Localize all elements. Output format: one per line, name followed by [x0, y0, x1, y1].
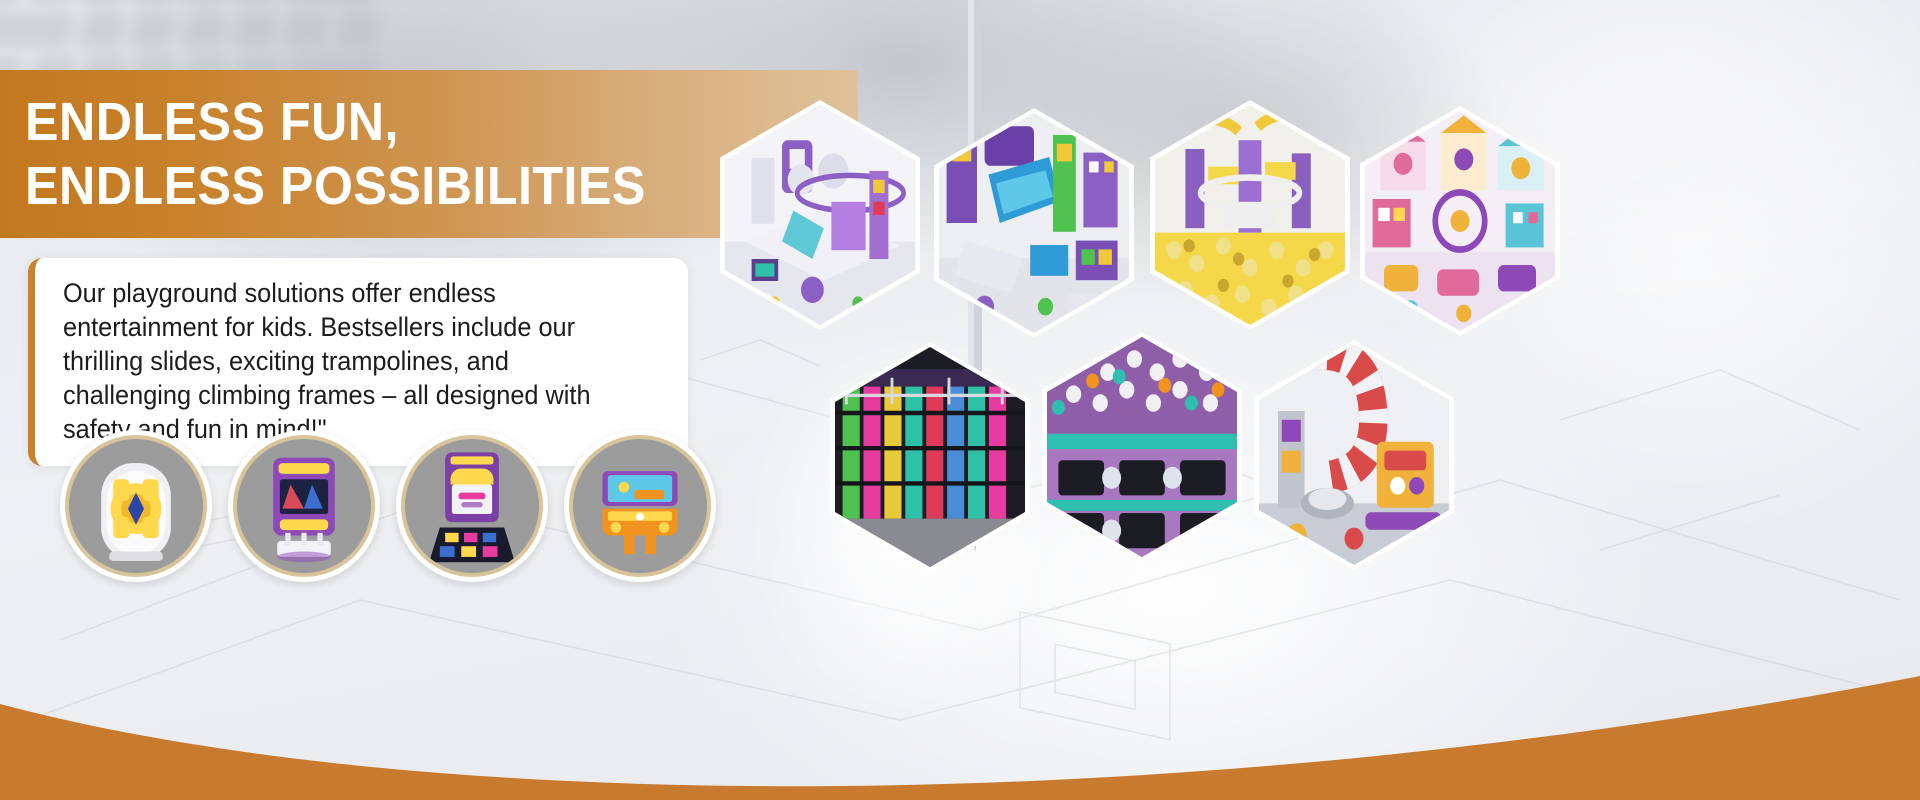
gallery-hex-ball-pit-yellow-arena[interactable]	[1150, 100, 1350, 330]
product-image-video-cabinet	[237, 439, 371, 573]
product-circle-purple-video-game-cabinet[interactable]	[228, 430, 380, 582]
hex-frame	[1254, 340, 1454, 570]
product-image-play-table	[573, 439, 707, 573]
gallery-hex-indoor-playground-green-slide[interactable]	[934, 108, 1134, 338]
circle-gold-ring	[569, 435, 711, 577]
product-circle-kids-ride-on-play-table[interactable]	[564, 430, 716, 582]
circle-gold-ring	[233, 435, 375, 577]
product-image-dance-floor	[405, 439, 539, 573]
product-circle-dance-floor-arcade-machine[interactable]	[396, 430, 548, 582]
quote-text: Our playground solutions offer endless e…	[63, 276, 637, 446]
product-circle-carousel-ferris-wheel-arcade-machine[interactable]	[60, 430, 212, 582]
hexagon-gallery	[700, 80, 1920, 600]
circle-gold-ring	[401, 435, 543, 577]
hex-image	[1259, 345, 1449, 565]
hex-image	[1047, 337, 1237, 557]
gallery-hex-ninja-warrior-obstacle-course[interactable]	[830, 342, 1030, 572]
hex-frame	[934, 108, 1134, 338]
hex-frame	[720, 100, 920, 330]
bottom-orange-wave	[0, 670, 1920, 800]
hex-image	[725, 105, 915, 325]
hex-frame	[1360, 106, 1560, 336]
hex-frame	[830, 342, 1030, 572]
gallery-hex-trampoline-park-ball-pit[interactable]	[1042, 332, 1242, 562]
hex-image	[1155, 105, 1345, 325]
circle-gold-ring	[65, 435, 207, 577]
hex-image	[835, 347, 1025, 567]
hex-image	[1365, 111, 1555, 331]
gallery-hex-indoor-playground-purple-white[interactable]	[720, 100, 920, 330]
gallery-hex-carnival-theme-play-area[interactable]	[1360, 106, 1560, 336]
product-image-carousel	[69, 439, 203, 573]
page-title: ENDLESS FUN, ENDLESS POSSIBILITIES	[25, 90, 646, 218]
hex-image	[939, 113, 1129, 333]
hex-frame	[1042, 332, 1242, 562]
gallery-hex-spiral-tube-slide-playground[interactable]	[1254, 340, 1454, 570]
product-thumbnail-row	[60, 430, 760, 590]
hex-frame	[1150, 100, 1350, 330]
